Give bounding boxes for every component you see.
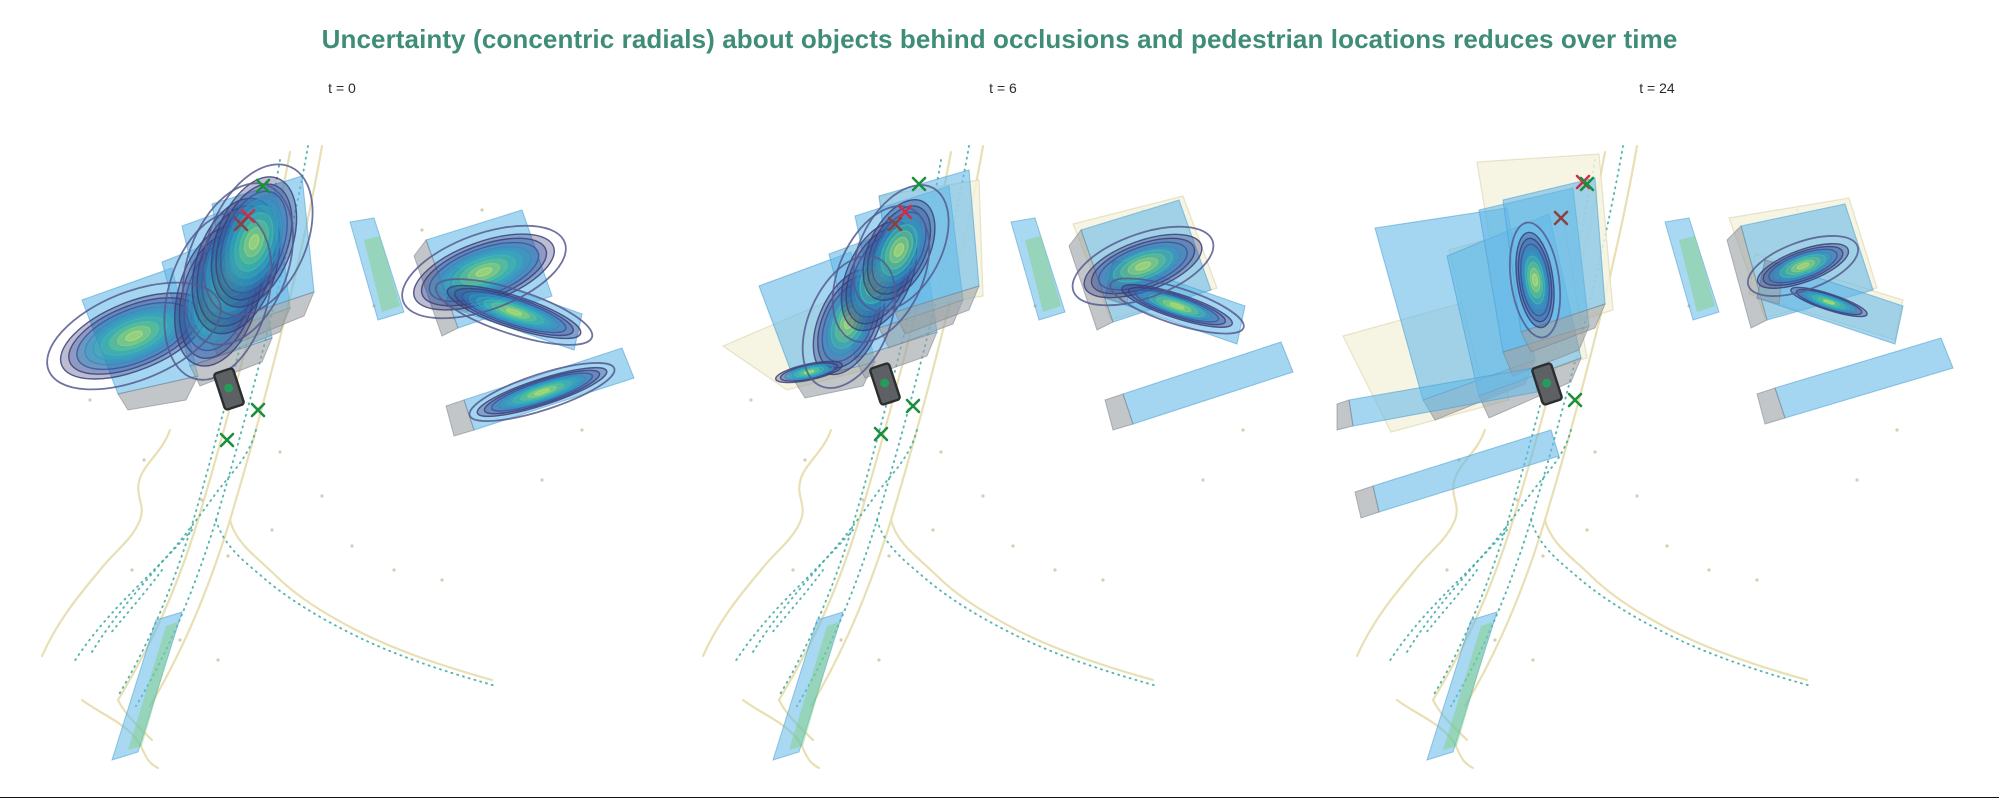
- map-point: [580, 428, 583, 431]
- lane-centerline: [216, 520, 496, 686]
- map-point: [440, 578, 443, 581]
- lane-centerline: [1389, 530, 1507, 662]
- map-point: [749, 398, 752, 401]
- map-point: [803, 458, 806, 461]
- map-point: [1635, 494, 1638, 497]
- panel-t24: t = 24: [1337, 60, 1977, 775]
- map-point: [270, 528, 273, 531]
- lane-centerline: [877, 520, 1157, 686]
- figure-root: Uncertainty (concentric radials) about o…: [0, 0, 1999, 806]
- map-point: [178, 638, 181, 641]
- map-point: [939, 450, 942, 453]
- map-point: [1011, 544, 1014, 547]
- map-point: [1755, 578, 1758, 581]
- sensor-wedge: [1373, 430, 1559, 512]
- map-point: [887, 554, 890, 557]
- panel-canvas-t6: [683, 100, 1323, 772]
- map-point: [1241, 428, 1244, 431]
- map-point: [1895, 428, 1898, 431]
- map-point: [1201, 478, 1204, 481]
- panel-label-t24: t = 24: [1337, 80, 1977, 96]
- bottom-divider: [0, 797, 1999, 798]
- ego-layer: [870, 363, 901, 405]
- map-point: [540, 478, 543, 481]
- map-point: [839, 638, 842, 641]
- page-title: Uncertainty (concentric radials) about o…: [0, 24, 1999, 55]
- map-point: [88, 398, 91, 401]
- map-point: [1585, 528, 1588, 531]
- panel-canvas-t24: [1337, 100, 1977, 772]
- map-point: [861, 498, 864, 501]
- road-boundary-line: [42, 430, 170, 656]
- pedestrian-x-icon: [221, 434, 233, 446]
- map-point: [1707, 568, 1710, 571]
- map-point: [877, 658, 880, 661]
- scene-svg: [683, 100, 1323, 772]
- road-boundary-line: [230, 520, 492, 680]
- map-point: [392, 568, 395, 571]
- map-point: [981, 494, 984, 497]
- map-point: [1053, 568, 1056, 571]
- scene-svg: [1337, 100, 1977, 772]
- road-boundary-line: [891, 520, 1153, 680]
- lane-centerline: [74, 530, 192, 662]
- scene-svg: [22, 100, 662, 772]
- map-point: [350, 544, 353, 547]
- pedestrian-x-icon: [907, 400, 919, 412]
- map-point: [200, 498, 203, 501]
- lane-centerline: [1531, 520, 1811, 686]
- map-point: [420, 228, 423, 231]
- map-point: [130, 568, 133, 571]
- panel-label-t0: t = 0: [22, 80, 662, 96]
- map-point: [480, 208, 483, 211]
- pedestrian-x-icon: [875, 428, 887, 440]
- map-point: [791, 568, 794, 571]
- map-point: [1493, 638, 1496, 641]
- sensor-wedge: [1775, 338, 1953, 418]
- ego-vehicle: [870, 363, 901, 405]
- panel-label-t6: t = 6: [683, 80, 1323, 96]
- map-point: [1541, 554, 1544, 557]
- map-point: [1855, 478, 1858, 481]
- road-boundary-line: [1545, 520, 1807, 680]
- map-point: [1445, 568, 1448, 571]
- map-point: [1665, 544, 1668, 547]
- map-point: [1593, 450, 1596, 453]
- panel-t6: t = 6: [683, 60, 1323, 775]
- lane-centerline: [735, 530, 853, 662]
- map-point: [142, 458, 145, 461]
- panel-canvas-t0: [22, 100, 662, 772]
- map-point: [226, 554, 229, 557]
- map-point: [278, 450, 281, 453]
- map-point: [1101, 578, 1104, 581]
- sensor-wedge: [1123, 342, 1293, 424]
- sensor-wedge-layer: [1337, 178, 1953, 518]
- panel-t0: t = 0: [22, 60, 662, 775]
- road-boundary-line: [703, 430, 831, 656]
- map-point: [1515, 498, 1518, 501]
- map-point: [931, 528, 934, 531]
- map-point: [216, 658, 219, 661]
- map-point: [1531, 658, 1534, 661]
- map-point: [320, 494, 323, 497]
